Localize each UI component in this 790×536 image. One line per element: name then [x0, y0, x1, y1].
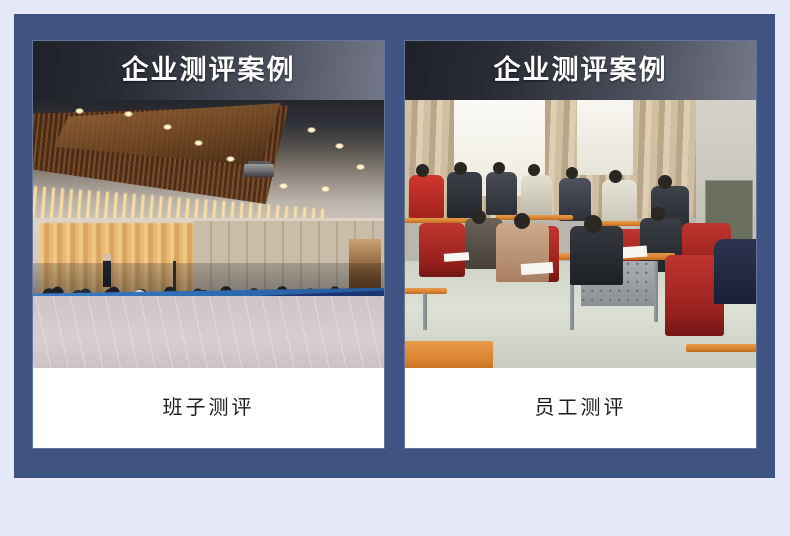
classroom-exam-photo	[405, 100, 756, 368]
downlight	[124, 111, 133, 117]
downlight	[279, 183, 288, 189]
desk-leg	[654, 261, 658, 323]
downlight	[321, 186, 330, 192]
student-desk	[405, 341, 493, 368]
downlight	[163, 124, 172, 130]
downlight	[335, 143, 344, 149]
red-chair	[419, 223, 465, 277]
student-head	[609, 170, 622, 183]
student-desk	[686, 344, 756, 352]
student-foreground	[570, 226, 623, 285]
case-card-leadership[interactable]: 企业测评案例	[33, 41, 384, 448]
projector	[244, 164, 274, 177]
student-head	[493, 162, 505, 174]
banner-title: 企业测评案例	[122, 57, 296, 84]
student	[714, 239, 756, 303]
card-banner: 企业测评案例	[405, 41, 756, 100]
downlight	[307, 127, 316, 133]
case-card-employee[interactable]: 企业测评案例	[405, 41, 756, 448]
student-head	[651, 207, 665, 221]
student	[559, 178, 591, 221]
banner-title: 企业测评案例	[494, 57, 668, 84]
student-desk	[405, 218, 468, 223]
student-desk	[496, 215, 573, 220]
student-head	[514, 213, 530, 229]
card-banner: 企业测评案例	[33, 41, 384, 100]
caption-text: 员工测评	[535, 398, 627, 418]
exam-paper	[443, 252, 468, 262]
student-head	[416, 164, 429, 177]
student-head	[472, 210, 486, 224]
student	[409, 175, 444, 218]
student-head	[658, 175, 672, 189]
student-head	[454, 162, 467, 175]
student	[486, 172, 518, 215]
conference-hall-photo	[33, 100, 384, 368]
window-glare	[577, 100, 633, 175]
card-caption: 班子测评	[33, 368, 384, 448]
caption-text: 班子测评	[163, 398, 255, 418]
blue-panel: 企业测评案例	[14, 14, 775, 478]
card-caption: 员工测评	[405, 368, 756, 448]
case-cards-row: 企业测评案例	[33, 41, 756, 448]
student	[521, 175, 553, 215]
desk-leg	[423, 293, 427, 331]
patterned-carpet	[33, 296, 384, 368]
